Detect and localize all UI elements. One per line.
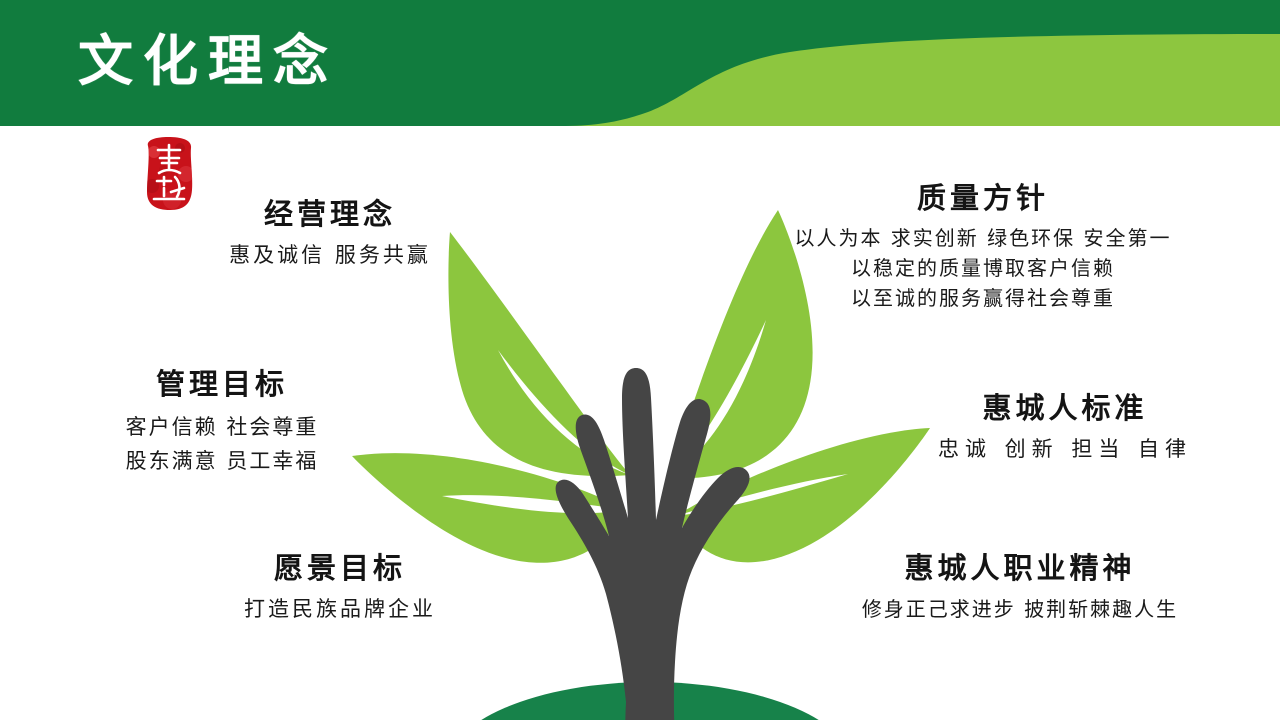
block-line: 以稳定的质量博取客户信赖 [768,254,1198,284]
block-line: 忠诚 创新 担当 自律 [900,435,1230,465]
slide-canvas: 文化理念 [0,0,1280,720]
block-line: 股东满意 员工幸福 [62,445,382,479]
block-lines-quality: 以人为本 求实创新 绿色环保 安全第一 以稳定的质量博取客户信赖 以至诚的服务赢… [768,224,1198,313]
block-line: 修身正己求进步 披荆斩棘趣人生 [800,595,1240,623]
block-lines-spirit: 修身正己求进步 披荆斩棘趣人生 [800,595,1240,623]
block-lines-business: 惠及诚信 服务共赢 [180,241,480,271]
block-heading-vision: 愿景目标 [180,552,500,584]
block-lines-management: 客户信赖 社会尊重 股东满意 员工幸福 [62,411,382,478]
block-heading-management: 管理目标 [62,368,382,400]
block-heading-spirit: 惠城人职业精神 [800,552,1240,584]
block-line: 以人为本 求实创新 绿色环保 安全第一 [768,224,1198,254]
concept-block-vision: 愿景目标 打造民族品牌企业 [180,552,500,625]
block-lines-standard: 忠诚 创新 担当 自律 [900,435,1230,465]
concept-block-standard: 惠城人标准 忠诚 创新 担当 自律 [900,392,1230,465]
concept-block-quality: 质量方针 以人为本 求实创新 绿色环保 安全第一 以稳定的质量博取客户信赖 以至… [768,182,1198,313]
slide-header: 文化理念 [0,0,1280,126]
block-line: 客户信赖 社会尊重 [62,411,382,445]
block-line: 以至诚的服务赢得社会尊重 [768,284,1198,314]
block-lines-vision: 打造民族品牌企业 [180,595,500,625]
page-title: 文化理念 [78,34,338,89]
block-line: 惠及诚信 服务共赢 [180,241,480,271]
concept-block-spirit: 惠城人职业精神 修身正己求进步 披荆斩棘趣人生 [800,552,1240,624]
block-line: 打造民族品牌企业 [180,595,500,625]
concept-block-management: 管理目标 客户信赖 社会尊重 股东满意 员工幸福 [62,368,382,479]
block-heading-standard: 惠城人标准 [900,392,1230,424]
block-heading-quality: 质量方针 [768,182,1198,214]
block-heading-business: 经营理念 [180,198,480,230]
concept-block-business: 经营理念 惠及诚信 服务共赢 [180,198,480,271]
